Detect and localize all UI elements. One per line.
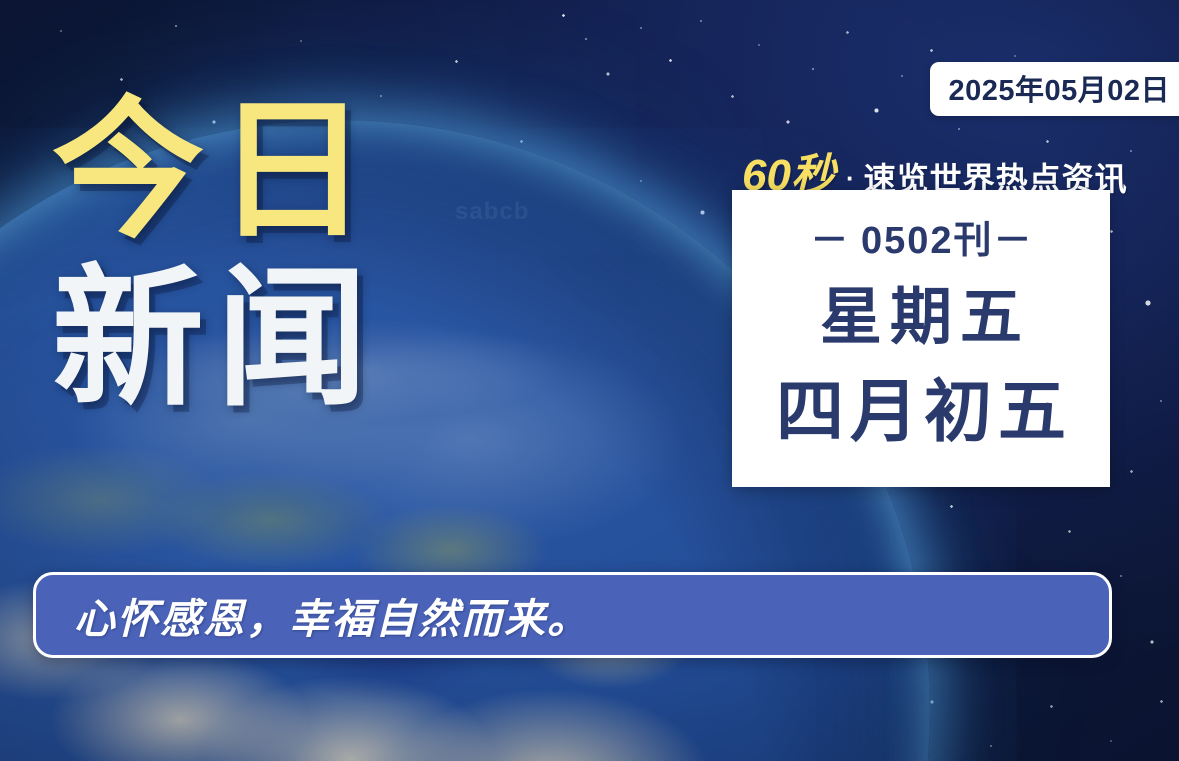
- page-title: 今日 新闻: [52, 96, 482, 415]
- issue-dash-right: －: [994, 220, 1032, 262]
- issue-dash-left: －: [810, 220, 848, 262]
- title-line-today: 今日: [52, 96, 482, 246]
- quote-text: 心怀感恩，幸福自然而来。: [74, 585, 590, 645]
- title-line-news: 新闻: [52, 264, 482, 414]
- weekday-label: 星期五: [812, 286, 1030, 348]
- date-info-card: － 0502刊－ 星期五 四月初五: [732, 190, 1110, 487]
- issue-number: 0502刊: [861, 220, 994, 262]
- issue-line: － 0502刊－: [810, 209, 1031, 264]
- lunar-date-label: 四月初五: [770, 379, 1072, 447]
- news-poster: sabcb 2025年05月02日 今日 新闻 60秒 · 速览世界热点资讯 －…: [0, 0, 1179, 761]
- date-badge: 2025年05月02日: [930, 62, 1179, 116]
- quote-bar: 心怀感恩，幸福自然而来。: [33, 572, 1112, 658]
